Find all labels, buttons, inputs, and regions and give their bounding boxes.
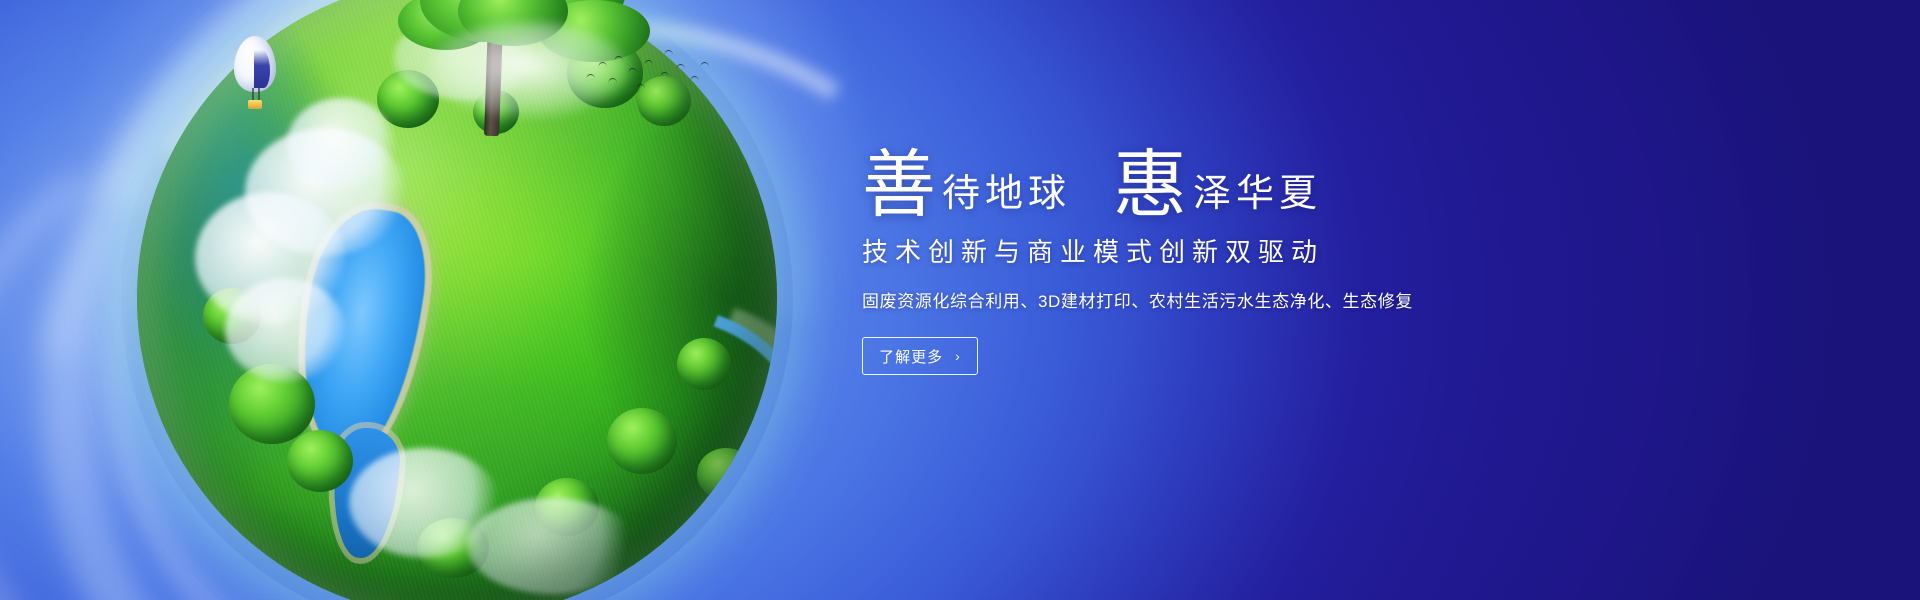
learn-more-label: 了解更多 <box>879 346 943 367</box>
hero-content: 善 待地球 惠 泽华夏 技术创新与商业模式创新双驱动 固废资源化综合利用、3D建… <box>862 132 1482 375</box>
learn-more-button[interactable]: 了解更多 › <box>862 337 978 375</box>
hero-subtitle: 技术创新与商业模式创新双驱动 <box>862 232 1482 269</box>
headline: 善 待地球 惠 泽华夏 <box>862 132 1482 218</box>
hero-banner: 善 待地球 惠 泽华夏 技术创新与商业模式创新双驱动 固废资源化综合利用、3D建… <box>0 0 1920 600</box>
headline-part2-rest: 泽华夏 <box>1193 174 1322 218</box>
headline-part1-accent: 善 <box>862 153 936 218</box>
hero-description: 固废资源化综合利用、3D建材打印、农村生活污水生态净化、生态修复 <box>862 287 1482 312</box>
chevron-right-icon: › <box>955 348 961 364</box>
headline-part2-accent: 惠 <box>1113 153 1187 218</box>
headline-part1-rest: 待地球 <box>942 174 1071 218</box>
